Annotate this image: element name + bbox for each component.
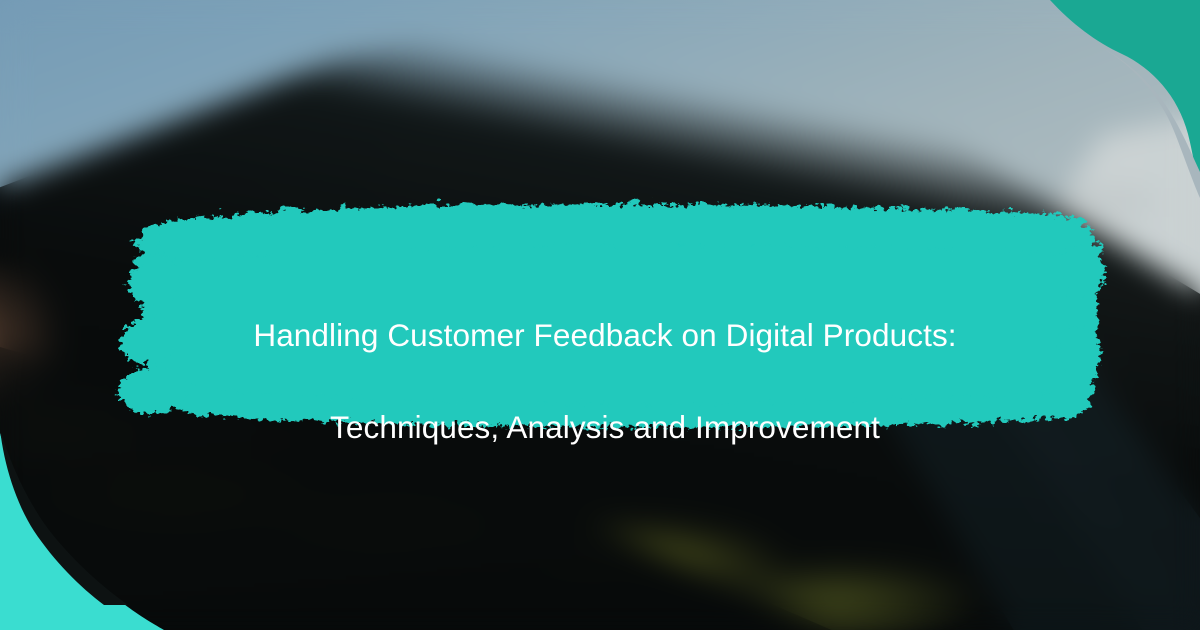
- card-title-line-1: Handling Customer Feedback on Digital Pr…: [140, 312, 1070, 358]
- card-title: Handling Customer Feedback on Digital Pr…: [140, 266, 1070, 496]
- card-title-line-2: Techniques, Analysis and Improvement: [140, 404, 1070, 450]
- share-card: Handling Customer Feedback on Digital Pr…: [0, 0, 1200, 630]
